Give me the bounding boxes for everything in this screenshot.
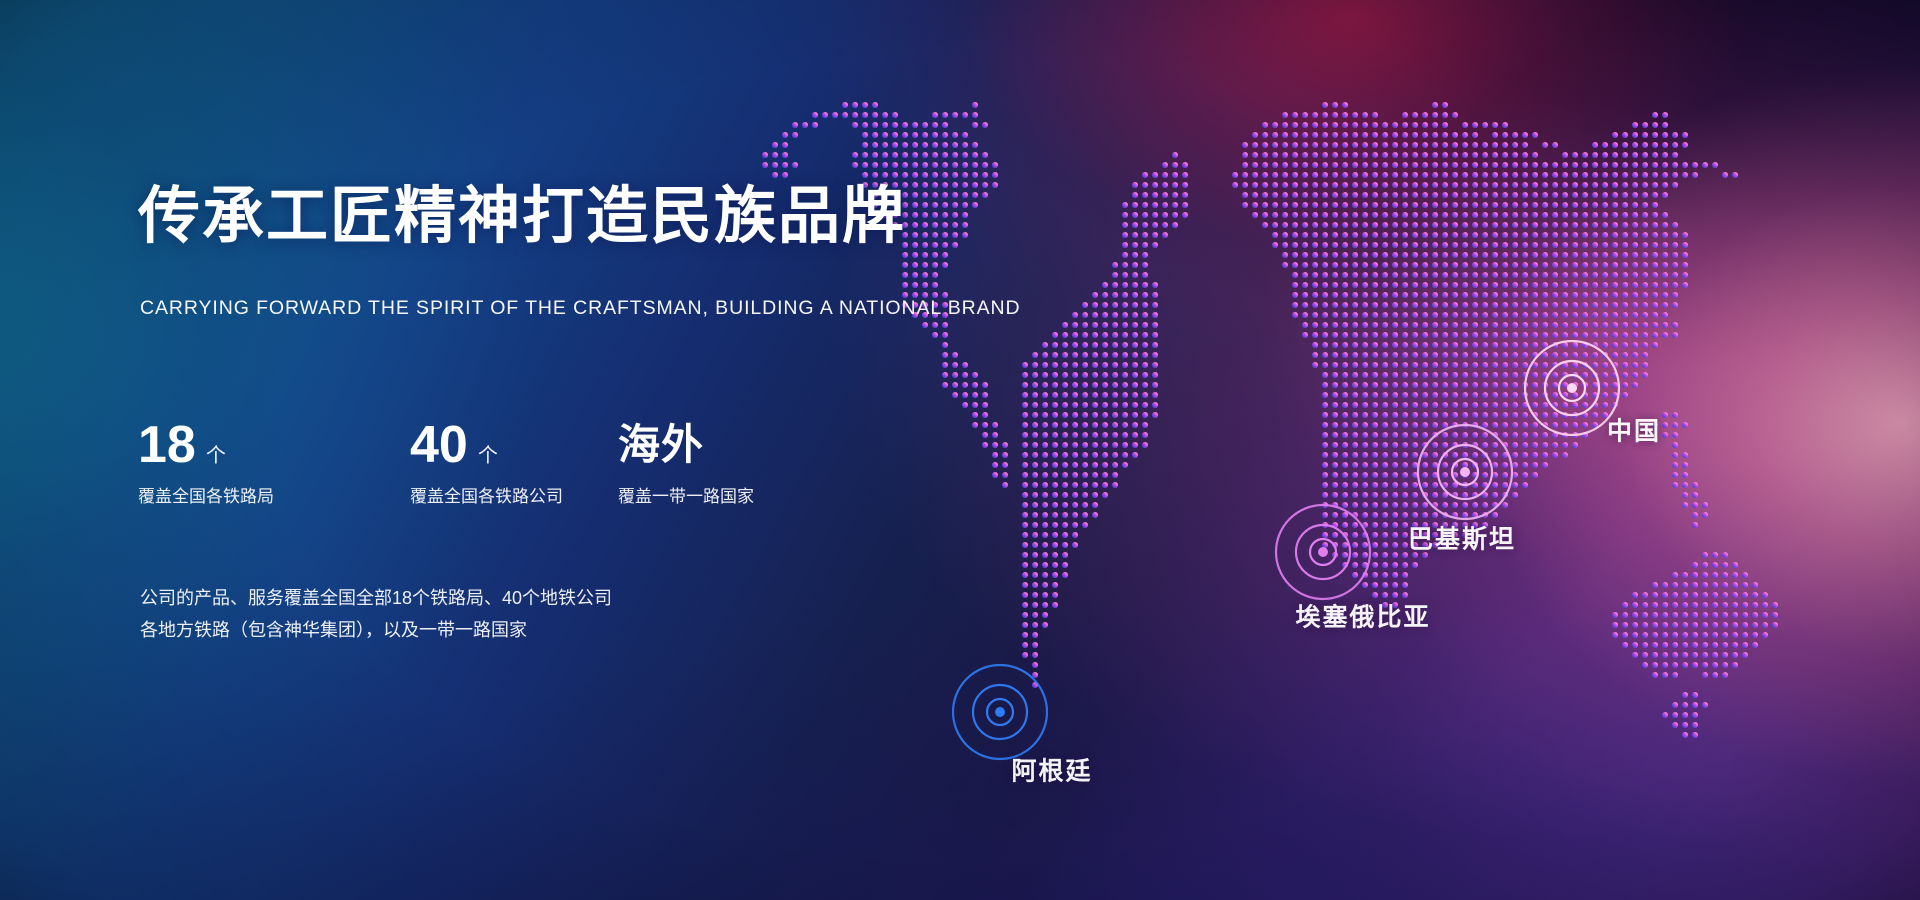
map-label-pakistan: 巴基斯坦 — [1408, 528, 1516, 553]
stats-row: 18 个 覆盖全国各铁路局 40 个 覆盖全国各铁路公司 海外 覆盖一带一路国家 — [138, 418, 838, 507]
stat-item-overseas: 海外 覆盖一带一路国家 — [618, 418, 838, 507]
description-paragraph: 公司的产品、服务覆盖全国全部18个铁路局、40个地铁公司 各地方铁路（包含神华集… — [140, 582, 612, 646]
page-subtitle: CARRYING FORWARD THE SPIRIT OF THE CRAFT… — [140, 298, 1021, 319]
stat-unit: 个 — [206, 446, 226, 466]
stat-value-group: 40 个 — [410, 418, 618, 474]
description-line-1: 公司的产品、服务覆盖全国全部18个铁路局、40个地铁公司 — [140, 582, 612, 614]
stat-value-group: 海外 — [618, 418, 838, 474]
stat-value-group: 18 个 — [138, 418, 410, 474]
stat-label: 覆盖全国各铁路公司 — [410, 487, 618, 507]
map-label-china: 中国 — [1607, 420, 1661, 445]
stat-item-railway-bureaus: 18 个 覆盖全国各铁路局 — [138, 418, 410, 507]
stat-item-railway-companies: 40 个 覆盖全国各铁路公司 — [410, 418, 618, 507]
stat-value: 18 — [138, 418, 196, 472]
map-label-ethiopia: 埃塞俄比亚 — [1295, 606, 1430, 631]
hero-content: 传承工匠精神打造民族品牌 CARRYING FORWARD THE SPIRIT… — [138, 0, 1038, 900]
stat-value: 40 — [410, 418, 468, 472]
stat-label: 覆盖全国各铁路局 — [138, 487, 410, 507]
page-title: 传承工匠精神打造民族品牌 — [138, 186, 906, 248]
stat-unit: 个 — [478, 446, 498, 466]
description-line-2: 各地方铁路（包含神华集团），以及一带一路国家 — [140, 614, 612, 646]
stat-value: 海外 — [618, 418, 704, 472]
stat-label: 覆盖一带一路国家 — [618, 487, 838, 507]
hero-banner: 中国巴基斯坦埃塞俄比亚阿根廷 传承工匠精神打造民族品牌 CARRYING FOR… — [0, 0, 1920, 900]
